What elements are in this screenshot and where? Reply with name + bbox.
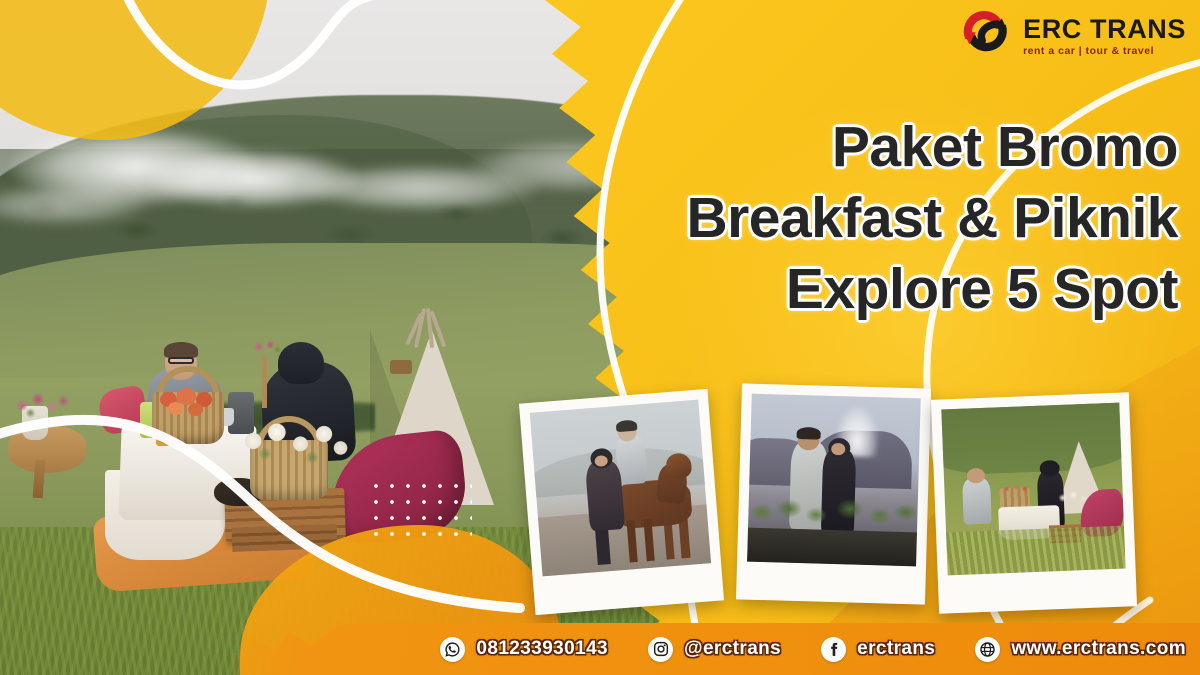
gallery-photo-horse-riding [519,389,724,615]
guest-man-hair [164,342,198,358]
promotional-banner: ERC TRANS rent a car | tour & travel Pak… [0,0,1200,675]
guest-woman-head [278,342,324,384]
globe-icon [975,637,1000,662]
dot-grid-decoration [368,478,472,536]
brand-tagline: rent a car | tour & travel [1023,46,1186,57]
brand-logo: ERC TRANS rent a car | tour & travel [958,10,1186,62]
flower-stand-pole [262,356,267,408]
headline-line-1: Paket Bromo [498,118,1178,176]
flower-stand-blooms [248,336,284,358]
erc-circular-swoosh-logo-icon [958,10,1014,62]
contact-website[interactable]: www.erctrans.com [975,637,1186,662]
lantern [390,360,412,374]
contact-instagram[interactable]: @erctrans [648,637,781,662]
side-table-leg [33,460,46,499]
fruit [168,402,183,415]
instagram-handle: @erctrans [684,638,781,660]
gallery-photo-picnic-teepee [931,392,1137,613]
white-flower-bouquet [232,412,350,470]
fruit [188,403,203,416]
facebook-icon [821,637,846,662]
headline-line-3: Explore 5 Spot [498,260,1178,318]
photo-bromo-crater-image [747,394,921,567]
headline: Paket Bromo Breakfast & Piknik Explore 5… [498,118,1178,331]
whatsapp-number: 081233930143 [476,638,608,660]
brand-name: ERC TRANS [1023,16,1186,43]
contact-bar: 081233930143 @erctrans erctrans [0,623,1200,675]
photo-horse-riding-image [530,400,711,577]
contact-facebook[interactable]: erctrans [821,637,935,662]
whatsapp-icon [440,637,465,662]
contact-whatsapp[interactable]: 081233930143 [440,637,608,662]
brand-logo-text: ERC TRANS rent a car | tour & travel [1023,16,1186,57]
website-url: www.erctrans.com [1011,638,1186,660]
instagram-icon [648,637,673,662]
photo-picnic-teepee-image [941,403,1125,576]
headline-line-2: Breakfast & Piknik [498,189,1178,247]
facebook-page: erctrans [857,638,935,660]
gallery-photo-bromo-crater [736,383,931,604]
guest-man-glasses [168,357,194,364]
pink-flowers [10,388,72,420]
